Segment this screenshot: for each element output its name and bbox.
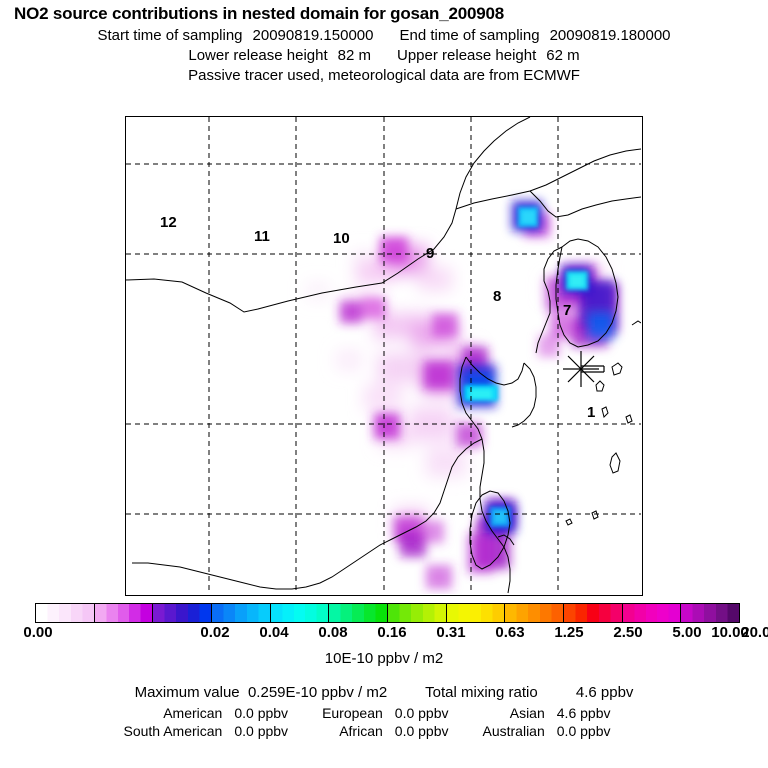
region-label-8: 8 xyxy=(493,289,501,304)
map-graphics xyxy=(126,117,641,594)
upper-release-value: 62 m xyxy=(546,47,579,64)
start-time-value: 20090819.150000 xyxy=(253,27,374,44)
method-note: Passive tracer used, meteorological data… xyxy=(0,67,768,84)
region-label-7: 7 xyxy=(563,303,571,318)
region-label-11: 11 xyxy=(254,229,270,244)
map-panel: 12 11 10 9 8 7 1 xyxy=(125,116,643,596)
colorbar-tick-2: 0.04 xyxy=(259,624,288,641)
continent-name: Australian xyxy=(483,722,557,740)
upper-release-label: Upper release height xyxy=(397,47,536,64)
colorbar-tick-9: 5.00 xyxy=(672,624,701,641)
colorbar-unit-label: 10E-10 ppbv / m2 xyxy=(0,650,768,667)
mixing-ratio-value: 4.6 ppbv xyxy=(576,684,634,701)
max-value: 0.259E-10 ppbv / m2 xyxy=(248,684,387,701)
footer-stats: Maximum value 0.259E-10 ppbv / m2 Total … xyxy=(0,684,768,740)
colorbar-segment-0 xyxy=(36,604,95,622)
colorbar-tick-6: 0.63 xyxy=(495,624,524,641)
colorbar-tick-11: 20.00 xyxy=(741,624,768,641)
continent-name: Asian xyxy=(483,704,557,722)
table-row: South American 0.0 ppbv African 0.0 ppbv… xyxy=(124,722,645,740)
continent-contributions-table: American 0.0 ppbv European 0.0 ppbv Asia… xyxy=(124,704,645,740)
continent-name: American xyxy=(124,704,235,722)
continent-value: 0.0 ppbv xyxy=(234,722,322,740)
table-row: American 0.0 ppbv European 0.0 ppbv Asia… xyxy=(124,704,645,722)
continent-value: 0.0 ppbv xyxy=(395,722,483,740)
region-label-1: 1 xyxy=(587,405,595,420)
asterisk-marker xyxy=(563,351,604,387)
colorbar-tick-3: 0.08 xyxy=(318,624,347,641)
colorbar-segment-3 xyxy=(212,604,271,622)
max-value-label: Maximum value xyxy=(135,684,240,701)
region-label-9: 9 xyxy=(426,246,434,261)
end-time-label: End time of sampling xyxy=(399,27,539,44)
continent-value: 0.0 ppbv xyxy=(395,704,483,722)
colorbar-segment-1 xyxy=(95,604,154,622)
end-time-value: 20090819.180000 xyxy=(550,27,671,44)
colorbar-tick-8: 2.50 xyxy=(613,624,642,641)
mixing-ratio-label: Total mixing ratio xyxy=(425,684,538,701)
continent-name: South American xyxy=(124,722,235,740)
continent-value: 4.6 ppbv xyxy=(557,704,645,722)
colorbar-ticks: 0.000.020.040.080.160.310.631.252.505.00… xyxy=(0,624,768,644)
colorbar-segment-2 xyxy=(153,604,212,622)
plot-page: NO2 source contributions in nested domai… xyxy=(0,0,768,768)
footer-summary-row: Maximum value 0.259E-10 ppbv / m2 Total … xyxy=(0,684,768,701)
colorbar-segment-7 xyxy=(447,604,506,622)
continent-value: 0.0 ppbv xyxy=(557,722,645,740)
continent-name: African xyxy=(322,722,395,740)
release-height-row: Lower release height82 mUpper release he… xyxy=(0,47,768,64)
colorbar-tick-0: 0.00 xyxy=(23,624,52,641)
start-time-label: Start time of sampling xyxy=(97,27,242,44)
region-label-12: 12 xyxy=(160,215,177,230)
page-title: NO2 source contributions in nested domai… xyxy=(0,4,768,24)
colorbar-segment-4 xyxy=(271,604,330,622)
grid-layer xyxy=(126,117,641,594)
colorbar-segment-6 xyxy=(388,604,447,622)
region-label-10: 10 xyxy=(333,231,350,246)
colorbar-segment-10 xyxy=(623,604,682,622)
colorbar xyxy=(35,603,740,623)
map-canvas: 12 11 10 9 8 7 1 xyxy=(126,117,642,595)
colorbar-tick-4: 0.16 xyxy=(377,624,406,641)
colorbar-tick-1: 0.02 xyxy=(200,624,229,641)
colorbar-tick-5: 0.31 xyxy=(436,624,465,641)
colorbar-segment-11 xyxy=(681,604,739,622)
lower-release-label: Lower release height xyxy=(188,47,327,64)
header: NO2 source contributions in nested domai… xyxy=(0,0,768,84)
plume-strong-layer xyxy=(458,201,614,533)
colorbar-segment-5 xyxy=(329,604,388,622)
colorbar-tick-7: 1.25 xyxy=(554,624,583,641)
lower-release-value: 82 m xyxy=(338,47,371,64)
colorbar-segment-9 xyxy=(564,604,623,622)
continent-value: 0.0 ppbv xyxy=(234,704,322,722)
sampling-time-row: Start time of sampling20090819.150000End… xyxy=(0,27,768,44)
continent-name: European xyxy=(322,704,395,722)
colorbar-segment-8 xyxy=(505,604,564,622)
